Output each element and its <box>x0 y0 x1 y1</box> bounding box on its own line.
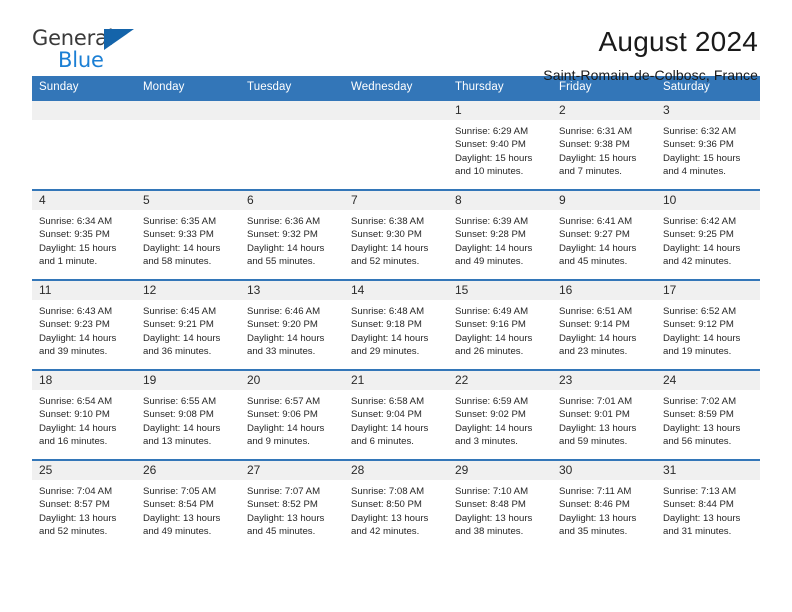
daylight-text: Daylight: 14 hours and 3 minutes. <box>455 422 546 449</box>
day-number <box>344 101 448 120</box>
sunset-text: Sunset: 8:44 PM <box>663 498 754 511</box>
daylight-text: Daylight: 14 hours and 33 minutes. <box>247 332 338 359</box>
day-number: 22 <box>448 371 552 390</box>
day-details: Sunrise: 6:43 AMSunset: 9:23 PMDaylight:… <box>32 300 136 359</box>
day-details: Sunrise: 7:10 AMSunset: 8:48 PMDaylight:… <box>448 480 552 539</box>
daylight-text: Daylight: 14 hours and 58 minutes. <box>143 242 234 269</box>
calendar-week-row: 1Sunrise: 6:29 AMSunset: 9:40 PMDaylight… <box>32 100 760 190</box>
calendar-day-cell[interactable]: 26Sunrise: 7:05 AMSunset: 8:54 PMDayligh… <box>136 460 240 550</box>
weekday-header-monday: Monday <box>136 76 240 100</box>
daylight-text: Daylight: 13 hours and 35 minutes. <box>559 512 650 539</box>
day-details: Sunrise: 6:34 AMSunset: 9:35 PMDaylight:… <box>32 210 136 269</box>
sunrise-text: Sunrise: 7:08 AM <box>351 485 442 498</box>
day-details: Sunrise: 7:13 AMSunset: 8:44 PMDaylight:… <box>656 480 760 539</box>
day-details: Sunrise: 6:38 AMSunset: 9:30 PMDaylight:… <box>344 210 448 269</box>
day-number: 25 <box>32 461 136 480</box>
day-details: Sunrise: 7:01 AMSunset: 9:01 PMDaylight:… <box>552 390 656 449</box>
day-details: Sunrise: 6:54 AMSunset: 9:10 PMDaylight:… <box>32 390 136 449</box>
calendar-week-row: 4Sunrise: 6:34 AMSunset: 9:35 PMDaylight… <box>32 190 760 280</box>
calendar-day-cell[interactable]: 17Sunrise: 6:52 AMSunset: 9:12 PMDayligh… <box>656 280 760 370</box>
calendar-day-cell[interactable]: 28Sunrise: 7:08 AMSunset: 8:50 PMDayligh… <box>344 460 448 550</box>
sunset-text: Sunset: 9:25 PM <box>663 228 754 241</box>
day-details: Sunrise: 6:39 AMSunset: 9:28 PMDaylight:… <box>448 210 552 269</box>
calendar-day-cell[interactable]: 23Sunrise: 7:01 AMSunset: 9:01 PMDayligh… <box>552 370 656 460</box>
day-number: 5 <box>136 191 240 210</box>
day-number: 29 <box>448 461 552 480</box>
title-block: August 2024 Saint-Romain-de-Colbosc, Fra… <box>543 26 760 83</box>
sunrise-text: Sunrise: 7:10 AM <box>455 485 546 498</box>
day-number: 9 <box>552 191 656 210</box>
weekday-header-wednesday: Wednesday <box>344 76 448 100</box>
daylight-text: Daylight: 14 hours and 16 minutes. <box>39 422 130 449</box>
daylight-text: Daylight: 14 hours and 26 minutes. <box>455 332 546 359</box>
sunrise-text: Sunrise: 6:52 AM <box>663 305 754 318</box>
day-number: 6 <box>240 191 344 210</box>
sunset-text: Sunset: 8:46 PM <box>559 498 650 511</box>
calendar-day-cell[interactable]: 5Sunrise: 6:35 AMSunset: 9:33 PMDaylight… <box>136 190 240 280</box>
day-number: 17 <box>656 281 760 300</box>
daylight-text: Daylight: 14 hours and 55 minutes. <box>247 242 338 269</box>
sunset-text: Sunset: 9:04 PM <box>351 408 442 421</box>
sunrise-text: Sunrise: 6:32 AM <box>663 125 754 138</box>
sunrise-text: Sunrise: 6:51 AM <box>559 305 650 318</box>
sunset-text: Sunset: 9:06 PM <box>247 408 338 421</box>
sunrise-text: Sunrise: 6:34 AM <box>39 215 130 228</box>
day-details: Sunrise: 6:32 AMSunset: 9:36 PMDaylight:… <box>656 120 760 179</box>
day-details: Sunrise: 6:46 AMSunset: 9:20 PMDaylight:… <box>240 300 344 359</box>
sunrise-text: Sunrise: 6:43 AM <box>39 305 130 318</box>
day-details: Sunrise: 6:31 AMSunset: 9:38 PMDaylight:… <box>552 120 656 179</box>
day-details: Sunrise: 7:07 AMSunset: 8:52 PMDaylight:… <box>240 480 344 539</box>
sunrise-text: Sunrise: 6:49 AM <box>455 305 546 318</box>
daylight-text: Daylight: 14 hours and 19 minutes. <box>663 332 754 359</box>
day-details: Sunrise: 7:08 AMSunset: 8:50 PMDaylight:… <box>344 480 448 539</box>
sunset-text: Sunset: 8:52 PM <box>247 498 338 511</box>
daylight-text: Daylight: 14 hours and 13 minutes. <box>143 422 234 449</box>
calendar-day-cell-empty <box>32 100 136 190</box>
day-details: Sunrise: 6:41 AMSunset: 9:27 PMDaylight:… <box>552 210 656 269</box>
day-details: Sunrise: 6:59 AMSunset: 9:02 PMDaylight:… <box>448 390 552 449</box>
day-details: Sunrise: 6:42 AMSunset: 9:25 PMDaylight:… <box>656 210 760 269</box>
sunrise-text: Sunrise: 6:46 AM <box>247 305 338 318</box>
daylight-text: Daylight: 15 hours and 4 minutes. <box>663 152 754 179</box>
day-details: Sunrise: 6:36 AMSunset: 9:32 PMDaylight:… <box>240 210 344 269</box>
sunrise-text: Sunrise: 6:54 AM <box>39 395 130 408</box>
day-number: 12 <box>136 281 240 300</box>
logo-triangle-icon <box>104 29 134 50</box>
day-number: 8 <box>448 191 552 210</box>
sunset-text: Sunset: 9:14 PM <box>559 318 650 331</box>
day-details: Sunrise: 6:51 AMSunset: 9:14 PMDaylight:… <box>552 300 656 359</box>
sunset-text: Sunset: 9:35 PM <box>39 228 130 241</box>
day-number: 20 <box>240 371 344 390</box>
daylight-text: Daylight: 14 hours and 45 minutes. <box>559 242 650 269</box>
sunrise-text: Sunrise: 6:45 AM <box>143 305 234 318</box>
sunset-text: Sunset: 9:36 PM <box>663 138 754 151</box>
day-number: 24 <box>656 371 760 390</box>
logo-text-general: General <box>32 28 152 49</box>
page-title: August 2024 <box>543 26 758 58</box>
daylight-text: Daylight: 15 hours and 1 minute. <box>39 242 130 269</box>
sunrise-text: Sunrise: 7:13 AM <box>663 485 754 498</box>
day-number: 15 <box>448 281 552 300</box>
daylight-text: Daylight: 13 hours and 38 minutes. <box>455 512 546 539</box>
daylight-text: Daylight: 13 hours and 31 minutes. <box>663 512 754 539</box>
calendar-body: 1Sunrise: 6:29 AMSunset: 9:40 PMDaylight… <box>32 100 760 550</box>
sunset-text: Sunset: 9:33 PM <box>143 228 234 241</box>
day-number: 23 <box>552 371 656 390</box>
calendar-day-cell[interactable]: 16Sunrise: 6:51 AMSunset: 9:14 PMDayligh… <box>552 280 656 370</box>
sunrise-text: Sunrise: 7:01 AM <box>559 395 650 408</box>
sunset-text: Sunset: 9:28 PM <box>455 228 546 241</box>
daylight-text: Daylight: 13 hours and 59 minutes. <box>559 422 650 449</box>
sunrise-text: Sunrise: 6:35 AM <box>143 215 234 228</box>
sunrise-text: Sunrise: 6:48 AM <box>351 305 442 318</box>
calendar-day-cell-empty <box>136 100 240 190</box>
daylight-text: Daylight: 14 hours and 29 minutes. <box>351 332 442 359</box>
calendar-grid: Sunday Monday Tuesday Wednesday Thursday… <box>32 76 760 550</box>
day-number: 3 <box>656 101 760 120</box>
calendar-day-cell[interactable]: 25Sunrise: 7:04 AMSunset: 8:57 PMDayligh… <box>32 460 136 550</box>
daylight-text: Daylight: 13 hours and 52 minutes. <box>39 512 130 539</box>
weekday-header-thursday: Thursday <box>448 76 552 100</box>
sunrise-text: Sunrise: 6:31 AM <box>559 125 650 138</box>
calendar-day-cell[interactable]: 24Sunrise: 7:02 AMSunset: 8:59 PMDayligh… <box>656 370 760 460</box>
sunrise-text: Sunrise: 6:58 AM <box>351 395 442 408</box>
day-details: Sunrise: 7:02 AMSunset: 8:59 PMDaylight:… <box>656 390 760 449</box>
daylight-text: Daylight: 14 hours and 6 minutes. <box>351 422 442 449</box>
daylight-text: Daylight: 13 hours and 49 minutes. <box>143 512 234 539</box>
generalblue-logo[interactable]: General Blue <box>32 26 152 71</box>
sunset-text: Sunset: 8:59 PM <box>663 408 754 421</box>
calendar-day-cell[interactable]: 21Sunrise: 6:58 AMSunset: 9:04 PMDayligh… <box>344 370 448 460</box>
calendar-day-cell[interactable]: 12Sunrise: 6:45 AMSunset: 9:21 PMDayligh… <box>136 280 240 370</box>
calendar-day-cell[interactable]: 1Sunrise: 6:29 AMSunset: 9:40 PMDaylight… <box>448 100 552 190</box>
sunrise-text: Sunrise: 6:55 AM <box>143 395 234 408</box>
sunrise-text: Sunrise: 6:57 AM <box>247 395 338 408</box>
day-number: 30 <box>552 461 656 480</box>
day-details: Sunrise: 7:11 AMSunset: 8:46 PMDaylight:… <box>552 480 656 539</box>
calendar-day-cell[interactable]: 14Sunrise: 6:48 AMSunset: 9:18 PMDayligh… <box>344 280 448 370</box>
daylight-text: Daylight: 14 hours and 42 minutes. <box>663 242 754 269</box>
calendar-day-cell[interactable]: 10Sunrise: 6:42 AMSunset: 9:25 PMDayligh… <box>656 190 760 280</box>
sunset-text: Sunset: 9:01 PM <box>559 408 650 421</box>
sunrise-text: Sunrise: 7:11 AM <box>559 485 650 498</box>
sunset-text: Sunset: 9:21 PM <box>143 318 234 331</box>
sunset-text: Sunset: 9:02 PM <box>455 408 546 421</box>
calendar-day-cell[interactable]: 15Sunrise: 6:49 AMSunset: 9:16 PMDayligh… <box>448 280 552 370</box>
sunrise-text: Sunrise: 7:07 AM <box>247 485 338 498</box>
daylight-text: Daylight: 14 hours and 36 minutes. <box>143 332 234 359</box>
sunset-text: Sunset: 9:23 PM <box>39 318 130 331</box>
day-details: Sunrise: 7:05 AMSunset: 8:54 PMDaylight:… <box>136 480 240 539</box>
calendar-page: General Blue August 2024 Saint-Romain-de… <box>0 0 792 612</box>
day-number: 19 <box>136 371 240 390</box>
calendar-day-cell[interactable]: 3Sunrise: 6:32 AMSunset: 9:36 PMDaylight… <box>656 100 760 190</box>
day-number: 26 <box>136 461 240 480</box>
sunset-text: Sunset: 9:40 PM <box>455 138 546 151</box>
day-details: Sunrise: 6:48 AMSunset: 9:18 PMDaylight:… <box>344 300 448 359</box>
daylight-text: Daylight: 13 hours and 56 minutes. <box>663 422 754 449</box>
sunrise-text: Sunrise: 7:05 AM <box>143 485 234 498</box>
sunset-text: Sunset: 8:48 PM <box>455 498 546 511</box>
calendar-day-cell[interactable]: 7Sunrise: 6:38 AMSunset: 9:30 PMDaylight… <box>344 190 448 280</box>
day-details: Sunrise: 6:57 AMSunset: 9:06 PMDaylight:… <box>240 390 344 449</box>
sunset-text: Sunset: 9:16 PM <box>455 318 546 331</box>
calendar-day-cell[interactable]: 20Sunrise: 6:57 AMSunset: 9:06 PMDayligh… <box>240 370 344 460</box>
day-details: Sunrise: 6:58 AMSunset: 9:04 PMDaylight:… <box>344 390 448 449</box>
calendar-week-row: 11Sunrise: 6:43 AMSunset: 9:23 PMDayligh… <box>32 280 760 370</box>
day-number <box>136 101 240 120</box>
sunrise-text: Sunrise: 6:42 AM <box>663 215 754 228</box>
daylight-text: Daylight: 14 hours and 49 minutes. <box>455 242 546 269</box>
calendar-day-cell[interactable]: 31Sunrise: 7:13 AMSunset: 8:44 PMDayligh… <box>656 460 760 550</box>
day-number: 27 <box>240 461 344 480</box>
calendar-day-cell-empty <box>344 100 448 190</box>
sunset-text: Sunset: 9:18 PM <box>351 318 442 331</box>
sunrise-text: Sunrise: 6:29 AM <box>455 125 546 138</box>
weekday-header-tuesday: Tuesday <box>240 76 344 100</box>
day-number <box>32 101 136 120</box>
day-number: 1 <box>448 101 552 120</box>
sunset-text: Sunset: 8:50 PM <box>351 498 442 511</box>
sunset-text: Sunset: 9:32 PM <box>247 228 338 241</box>
sunset-text: Sunset: 9:12 PM <box>663 318 754 331</box>
day-number: 11 <box>32 281 136 300</box>
day-number: 13 <box>240 281 344 300</box>
daylight-text: Daylight: 13 hours and 42 minutes. <box>351 512 442 539</box>
calendar-day-cell[interactable]: 9Sunrise: 6:41 AMSunset: 9:27 PMDaylight… <box>552 190 656 280</box>
sunrise-text: Sunrise: 6:39 AM <box>455 215 546 228</box>
daylight-text: Daylight: 13 hours and 45 minutes. <box>247 512 338 539</box>
day-number <box>240 101 344 120</box>
daylight-text: Daylight: 14 hours and 39 minutes. <box>39 332 130 359</box>
sunrise-text: Sunrise: 6:38 AM <box>351 215 442 228</box>
day-number: 14 <box>344 281 448 300</box>
day-number: 7 <box>344 191 448 210</box>
sunrise-text: Sunrise: 6:41 AM <box>559 215 650 228</box>
sunset-text: Sunset: 9:10 PM <box>39 408 130 421</box>
day-number: 4 <box>32 191 136 210</box>
day-details: Sunrise: 6:55 AMSunset: 9:08 PMDaylight:… <box>136 390 240 449</box>
sunset-text: Sunset: 9:08 PM <box>143 408 234 421</box>
day-number: 10 <box>656 191 760 210</box>
calendar-day-cell[interactable]: 11Sunrise: 6:43 AMSunset: 9:23 PMDayligh… <box>32 280 136 370</box>
day-number: 28 <box>344 461 448 480</box>
sunset-text: Sunset: 8:57 PM <box>39 498 130 511</box>
day-details: Sunrise: 6:52 AMSunset: 9:12 PMDaylight:… <box>656 300 760 359</box>
day-details: Sunrise: 7:04 AMSunset: 8:57 PMDaylight:… <box>32 480 136 539</box>
sunset-text: Sunset: 9:27 PM <box>559 228 650 241</box>
sunrise-text: Sunrise: 6:36 AM <box>247 215 338 228</box>
calendar-day-cell[interactable]: 13Sunrise: 6:46 AMSunset: 9:20 PMDayligh… <box>240 280 344 370</box>
calendar-day-cell[interactable]: 4Sunrise: 6:34 AMSunset: 9:35 PMDaylight… <box>32 190 136 280</box>
day-number: 16 <box>552 281 656 300</box>
calendar-day-cell[interactable]: 29Sunrise: 7:10 AMSunset: 8:48 PMDayligh… <box>448 460 552 550</box>
logo-text-blue: Blue <box>58 50 152 71</box>
sunset-text: Sunset: 9:30 PM <box>351 228 442 241</box>
sunset-text: Sunset: 8:54 PM <box>143 498 234 511</box>
calendar-day-cell[interactable]: 2Sunrise: 6:31 AMSunset: 9:38 PMDaylight… <box>552 100 656 190</box>
calendar-day-cell-empty <box>240 100 344 190</box>
day-number: 31 <box>656 461 760 480</box>
sunrise-text: Sunrise: 6:59 AM <box>455 395 546 408</box>
day-number: 18 <box>32 371 136 390</box>
day-number: 21 <box>344 371 448 390</box>
daylight-text: Daylight: 15 hours and 10 minutes. <box>455 152 546 179</box>
calendar-week-row: 18Sunrise: 6:54 AMSunset: 9:10 PMDayligh… <box>32 370 760 460</box>
daylight-text: Daylight: 14 hours and 52 minutes. <box>351 242 442 269</box>
calendar-day-cell[interactable]: 18Sunrise: 6:54 AMSunset: 9:10 PMDayligh… <box>32 370 136 460</box>
daylight-text: Daylight: 14 hours and 9 minutes. <box>247 422 338 449</box>
calendar-day-cell[interactable]: 6Sunrise: 6:36 AMSunset: 9:32 PMDaylight… <box>240 190 344 280</box>
sunset-text: Sunset: 9:38 PM <box>559 138 650 151</box>
day-details: Sunrise: 6:45 AMSunset: 9:21 PMDaylight:… <box>136 300 240 359</box>
calendar-day-cell[interactable]: 27Sunrise: 7:07 AMSunset: 8:52 PMDayligh… <box>240 460 344 550</box>
calendar-day-cell[interactable]: 8Sunrise: 6:39 AMSunset: 9:28 PMDaylight… <box>448 190 552 280</box>
page-header: General Blue August 2024 Saint-Romain-de… <box>32 0 760 76</box>
day-details: Sunrise: 6:49 AMSunset: 9:16 PMDaylight:… <box>448 300 552 359</box>
calendar-day-cell[interactable]: 19Sunrise: 6:55 AMSunset: 9:08 PMDayligh… <box>136 370 240 460</box>
daylight-text: Daylight: 14 hours and 23 minutes. <box>559 332 650 359</box>
calendar-week-row: 25Sunrise: 7:04 AMSunset: 8:57 PMDayligh… <box>32 460 760 550</box>
day-details: Sunrise: 6:35 AMSunset: 9:33 PMDaylight:… <box>136 210 240 269</box>
weekday-header-sunday: Sunday <box>32 76 136 100</box>
calendar-day-cell[interactable]: 30Sunrise: 7:11 AMSunset: 8:46 PMDayligh… <box>552 460 656 550</box>
daylight-text: Daylight: 15 hours and 7 minutes. <box>559 152 650 179</box>
day-details: Sunrise: 6:29 AMSunset: 9:40 PMDaylight:… <box>448 120 552 179</box>
sunrise-text: Sunrise: 7:04 AM <box>39 485 130 498</box>
sunrise-text: Sunrise: 7:02 AM <box>663 395 754 408</box>
calendar-day-cell[interactable]: 22Sunrise: 6:59 AMSunset: 9:02 PMDayligh… <box>448 370 552 460</box>
sunset-text: Sunset: 9:20 PM <box>247 318 338 331</box>
day-number: 2 <box>552 101 656 120</box>
